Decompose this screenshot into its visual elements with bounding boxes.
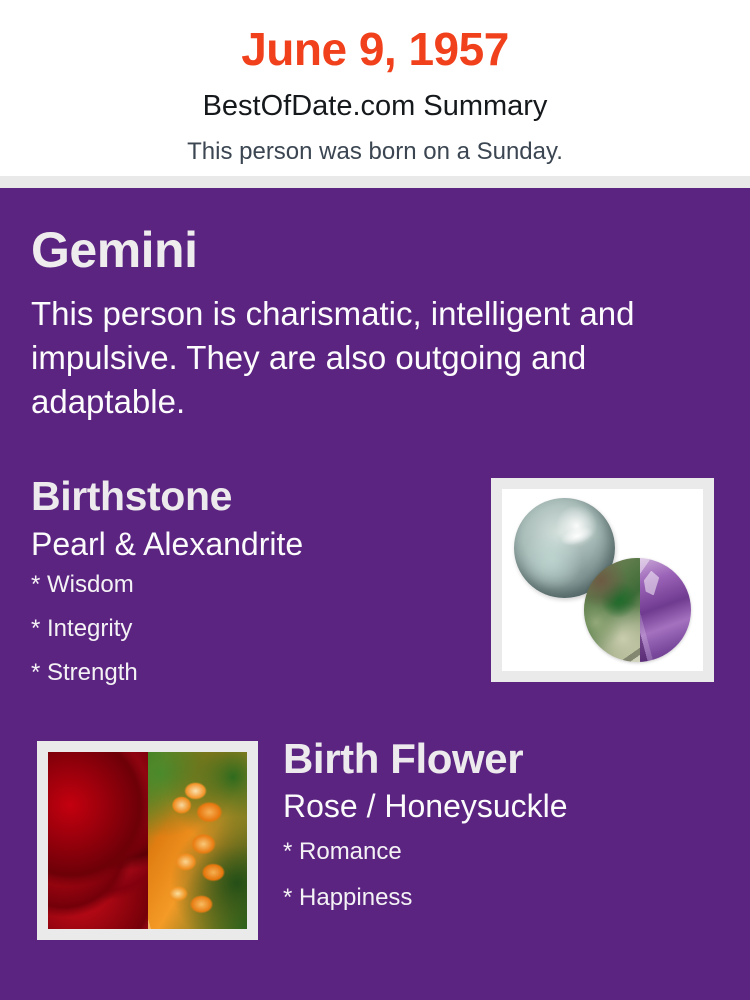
birthstone-title: Birthstone <box>31 476 471 517</box>
birth-flower-image <box>48 752 247 929</box>
list-item: * Strength <box>31 661 471 685</box>
birthstone-attribute-list: * Wisdom * Integrity * Strength <box>31 573 471 685</box>
summary-card: June 9, 1957 BestOfDate.com Summary This… <box>0 0 750 1000</box>
list-item: * Happiness <box>283 886 713 910</box>
gem-faceted-half <box>640 558 691 662</box>
alexandrite-gem-icon <box>584 558 691 662</box>
orange-honeysuckle-icon <box>148 752 248 929</box>
list-item: * Romance <box>283 840 713 864</box>
birthstone-value: Pearl & Alexandrite <box>31 528 471 560</box>
gem-rough-half <box>584 558 639 662</box>
card-header: June 9, 1957 BestOfDate.com Summary This… <box>0 0 750 176</box>
birth-flower-value: Rose / Honeysuckle <box>283 790 713 822</box>
page-title: June 9, 1957 <box>0 0 750 72</box>
list-item: * Wisdom <box>31 573 471 597</box>
zodiac-section: Gemini This person is charismatic, intel… <box>31 225 711 424</box>
red-roses-icon <box>48 752 148 929</box>
card-body: Gemini This person is charismatic, intel… <box>0 188 750 1000</box>
birth-flower-attribute-list: * Romance * Happiness <box>283 840 713 910</box>
birthstone-image <box>502 489 703 671</box>
site-summary-label: BestOfDate.com Summary <box>0 72 750 121</box>
birthstone-section: Birthstone Pearl & Alexandrite * Wisdom … <box>31 476 471 685</box>
zodiac-sign-name: Gemini <box>31 225 711 275</box>
born-day-note: This person was born on a Sunday. <box>0 121 750 164</box>
zodiac-description: This person is charismatic, intelligent … <box>31 292 703 424</box>
header-divider <box>0 176 750 188</box>
list-item: * Integrity <box>31 617 471 641</box>
birth-flower-image-frame <box>37 741 258 940</box>
birth-flower-section: Birth Flower Rose / Honeysuckle * Romanc… <box>283 738 713 932</box>
birthstone-image-frame <box>491 478 714 682</box>
birth-flower-title: Birth Flower <box>283 738 713 780</box>
